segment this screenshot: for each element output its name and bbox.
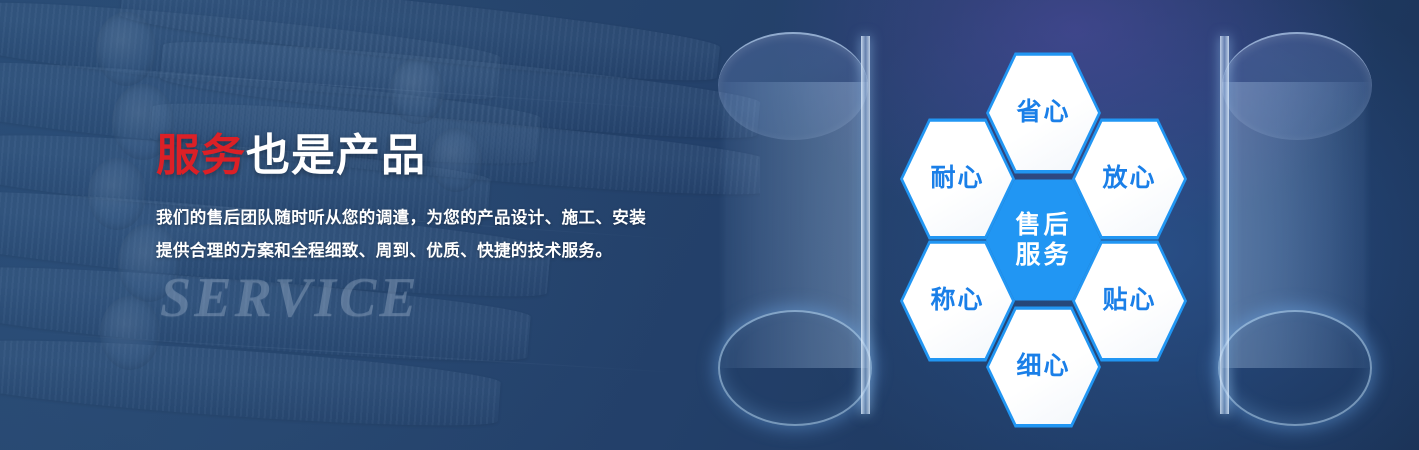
headline-rest: 也是产品 [246, 131, 426, 180]
hex-label: 贴心 [1102, 287, 1156, 315]
subcopy-line-1: 我们的售后团队随时听从您的调遣，为您的产品设计、施工、安装 [156, 202, 716, 235]
subcopy: 我们的售后团队随时听从您的调遣，为您的产品设计、施工、安装 提供合理的方案和全程… [156, 202, 716, 268]
headline-accent: 服务 [156, 131, 246, 180]
glass-cylinder-left [718, 36, 868, 414]
subcopy-line-2: 提供合理的方案和全程细致、周到、优质、快捷的技术服务。 [156, 235, 716, 268]
service-banner: 服务也是产品 我们的售后团队随时听从您的调遣，为您的产品设计、施工、安装 提供合… [0, 0, 1419, 450]
hex-label: 细心 [1016, 353, 1070, 381]
hex-label: 耐心 [930, 165, 984, 193]
page-title: 服务也是产品 [156, 128, 716, 184]
hex-label: 省心 [1016, 99, 1070, 127]
glass-cylinder-right [1222, 36, 1372, 414]
hex-center-line-2: 服务 [1015, 241, 1071, 269]
hex-label: 放心 [1102, 165, 1156, 193]
service-watermark: SERVICE [160, 266, 420, 330]
honeycomb-diagram: 省心 放心 贴心 细心 称心 耐心 售后 服务 [870, 48, 1230, 408]
copy-block: 服务也是产品 我们的售后团队随时听从您的调遣，为您的产品设计、施工、安装 提供合… [156, 128, 716, 268]
hex-center-line-1: 售后 [1015, 211, 1071, 239]
hex-label: 称心 [930, 287, 984, 315]
